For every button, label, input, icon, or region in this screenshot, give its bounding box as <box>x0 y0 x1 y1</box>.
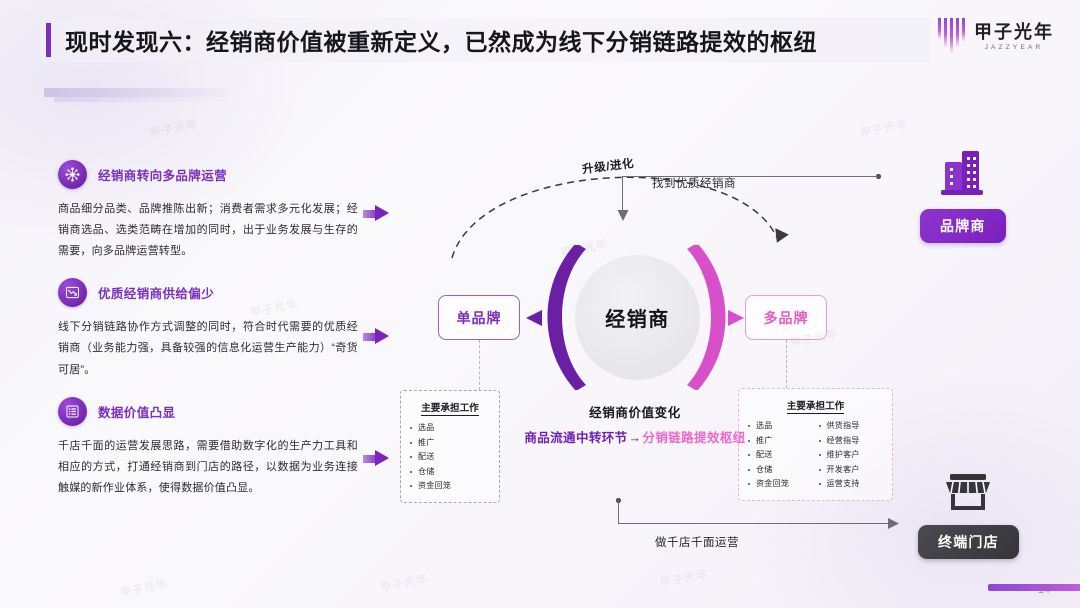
feature-title: 数据价值凸显 <box>98 402 175 421</box>
feature-body: 千店千面的运营发展思路，需要借助数字化的生产力工具和相应的方式，打通经销商到门店… <box>58 436 358 499</box>
dashed-connector-left <box>479 340 480 390</box>
feature-title: 经销商转向多品牌运营 <box>98 165 227 184</box>
center-node-label: 经销商 <box>605 303 670 332</box>
workbox-column: 供货指导 经营指导 维护客户 开发客户 运营支持 <box>819 419 884 492</box>
workbox-item: 仓储 <box>748 463 813 478</box>
network-hub-icon <box>58 160 87 189</box>
node-brand-owner[interactable]: 品牌商 <box>920 148 1006 243</box>
multi-brand-box[interactable]: 多品牌 <box>745 295 827 340</box>
terminal-store-label: 终端门店 <box>918 525 1019 559</box>
workbox-item: 开发客户 <box>819 463 884 478</box>
watermark: 甲子光年 <box>119 575 169 601</box>
feature-item-quality-supply: 优质经销商供给偏少 线下分销链路协作方式调整的同时，符合时代需要的优质经销商（业… <box>58 278 358 380</box>
workbox-title: 主要承担工作 <box>421 400 479 416</box>
feature-item-multi-brand: 经销商转向多品牌运营 商品细分品类、品牌推陈出新；消费者需求多元化发展；经销商选… <box>58 160 358 262</box>
workbox-item: 运营支持 <box>819 477 884 492</box>
feature-title: 优质经销商供给偏少 <box>98 283 214 302</box>
workbox-item: 经营指导 <box>819 434 884 449</box>
logo-name-en: JAZZYEAR <box>985 44 1044 51</box>
header-shadow-bar <box>44 88 234 97</box>
feature-body: 商品细分品类、品牌推陈出新；消费者需求多元化发展；经销商选品、选类范畴在增加的同… <box>58 199 358 262</box>
workbox-item: 仓储 <box>410 465 490 480</box>
slide-header: 现时发现六：经销商价值被重新定义，已然成为线下分销链路提效的枢纽 <box>40 18 930 62</box>
workbox-item: 配送 <box>410 450 490 465</box>
workbox-item: 维护客户 <box>819 448 884 463</box>
feature-body: 线下分销链路协作方式调整的同时，符合时代需要的优质经销商（业务能力强，具备较强的… <box>58 317 358 380</box>
workbox-column: 选品 推广 配送 仓储 资金回笼 <box>410 421 490 494</box>
dashed-connector-right <box>786 340 787 388</box>
brand-logo: 甲子光年 JAZZYEAR <box>938 18 1055 56</box>
building-icon <box>935 148 991 203</box>
logo-name-cn: 甲子光年 <box>974 23 1054 42</box>
value-change-title: 经销商价值变化 <box>485 402 785 421</box>
value-change-to: 分销链路提效枢纽 <box>642 431 745 445</box>
workbox-item: 推广 <box>410 436 490 451</box>
connector-bottom-horizontal <box>618 523 890 524</box>
connector-top-label: 找到优质经销商 <box>652 175 736 191</box>
declining-chart-icon <box>58 278 87 307</box>
bracket-left-arrow-icon <box>522 308 544 328</box>
connector-bottom-label: 做千店千面运营 <box>655 534 739 550</box>
single-brand-box[interactable]: 单品牌 <box>438 295 520 340</box>
purple-arrow-icon-2 <box>363 328 389 345</box>
workbox-item: 选品 <box>410 421 490 436</box>
node-terminal-store[interactable]: 终端门店 <box>918 472 1019 559</box>
connector-bottom-arrowhead-icon <box>886 517 900 531</box>
brand-owner-label: 品牌商 <box>920 209 1006 243</box>
workbox-item: 资金回笼 <box>410 479 490 494</box>
list-icon <box>58 397 87 426</box>
purple-arrow-icon-1 <box>363 205 389 222</box>
workbox-item: 配送 <box>748 448 813 463</box>
value-change-caption: 经销商价值变化 商品流通中转环节→分销链路提效枢纽 <box>485 402 785 446</box>
workbox-item: 供货指导 <box>819 419 884 434</box>
feature-item-data-value: 数据价值凸显 千店千面的运营发展思路，需要借助数字化的生产力工具和相应的方式，打… <box>58 397 358 499</box>
feature-list: 经销商转向多品牌运营 商品细分品类、品牌推陈出新；消费者需求多元化发展；经销商选… <box>58 160 358 515</box>
logo-mark-icon <box>938 18 966 56</box>
connector-top-arrowhead-icon <box>616 208 630 222</box>
storefront-icon <box>938 472 998 519</box>
workbox-title: 主要承担工作 <box>787 398 845 414</box>
connector-bottom-vertical <box>618 500 619 524</box>
connector-top-vertical <box>622 176 623 212</box>
purple-arrow-icon-3 <box>363 450 389 467</box>
value-change-from: 商品流通中转环节 <box>524 431 627 445</box>
value-change-arrow: → <box>629 431 642 445</box>
header-accent-bar <box>46 23 51 57</box>
footer-accent-bar <box>988 584 1080 591</box>
watermark: 甲子光年 <box>149 115 199 141</box>
header-shadow-bar-secondary <box>54 97 214 102</box>
page-title: 现时发现六：经销商价值被重新定义，已然成为线下分销链路提效的枢纽 <box>65 23 817 57</box>
center-node-dealer: 经销商 <box>575 255 700 380</box>
workbox-item: 资金回笼 <box>748 477 813 492</box>
